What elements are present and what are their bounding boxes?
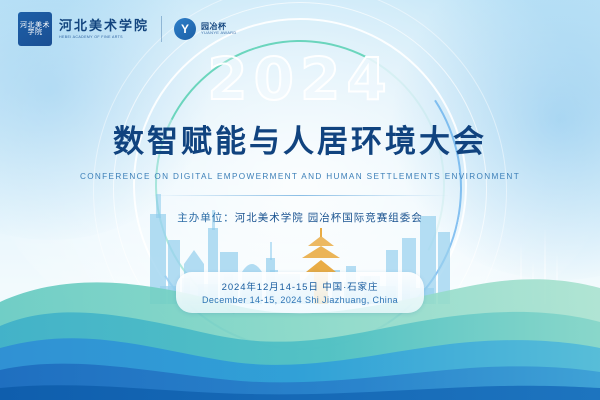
conference-poster: 河北美术学院 河北美术学院 HEBEI ACADEMY OF FINE ARTS… [0, 0, 600, 400]
hero-text-block: 2024 数智赋能与人居环境大会 CONFERENCE ON DIGITAL E… [0, 0, 600, 225]
host-label: 主办单位： [177, 212, 235, 224]
rolling-hills [0, 230, 600, 400]
date-location-en: December 14-15, 2024 Shi Jiazhuang, Chin… [202, 295, 398, 305]
subtitle-english: CONFERENCE ON DIGITAL EMPOWERMENT AND HU… [0, 172, 600, 181]
host-organizations: 河北美术学院 园冶杯国际竞赛组委会 [235, 212, 423, 224]
title-divider [150, 195, 450, 196]
date-location-cn: 2024年12月14-15日 中国·石家庄 [202, 279, 398, 293]
page-title: 数智赋能与人居环境大会 [0, 124, 600, 160]
host-line: 主办单位：河北美术学院 园冶杯国际竞赛组委会 [0, 210, 600, 225]
year-heading: 2024 [0, 50, 600, 108]
date-location-badge: 2024年12月14-15日 中国·石家庄 December 14-15, 20… [176, 272, 424, 313]
